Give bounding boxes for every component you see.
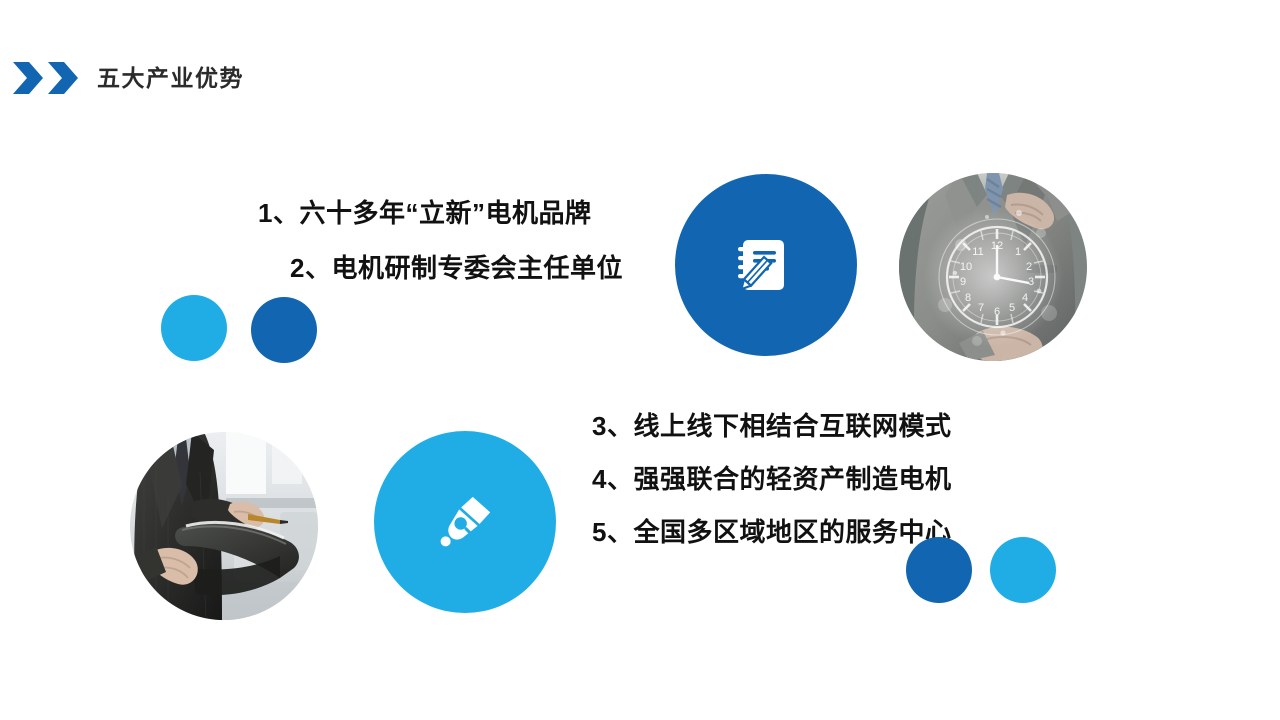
- advantages-list-bottom: 3、线上线下相结合互联网模式 4、强强联合的轻资产制造电机 5、全国多区域地区的…: [592, 406, 951, 549]
- list-item: 1、六十多年“立新”电机品牌: [258, 193, 623, 230]
- pen-nib-icon: [434, 491, 496, 553]
- decorative-dot: [251, 297, 317, 363]
- advantages-list-top: 1、六十多年“立新”电机品牌 2、电机研制专委会主任单位: [258, 193, 623, 285]
- list-item: 2、电机研制专委会主任单位: [258, 248, 623, 285]
- notebook-pencil-icon: [734, 233, 798, 297]
- slide-canvas: 五大产业优势 1、六十多年“立新”电机品牌 2、电机研制专委会主任单位 3、线上…: [0, 0, 1280, 720]
- list-item: 5、全国多区域地区的服务中心: [592, 512, 951, 549]
- list-item: 3、线上线下相结合互联网模式: [592, 406, 951, 443]
- decorative-dot: [906, 537, 972, 603]
- slide-header: 五大产业优势: [12, 58, 244, 98]
- icon-circle-pen: [374, 431, 556, 613]
- decorative-dot: [990, 537, 1056, 603]
- businessman-clock-photo: 12 1 2 3 4 5 6 7 8 9 10 11: [899, 173, 1087, 361]
- icon-circle-notebook: [675, 174, 857, 356]
- businessman-writing-photo: [130, 432, 318, 620]
- double-chevron-right-icon: [12, 61, 79, 95]
- decorative-dot: [161, 295, 227, 361]
- list-item: 4、强强联合的轻资产制造电机: [592, 459, 951, 496]
- page-title: 五大产业优势: [97, 67, 244, 90]
